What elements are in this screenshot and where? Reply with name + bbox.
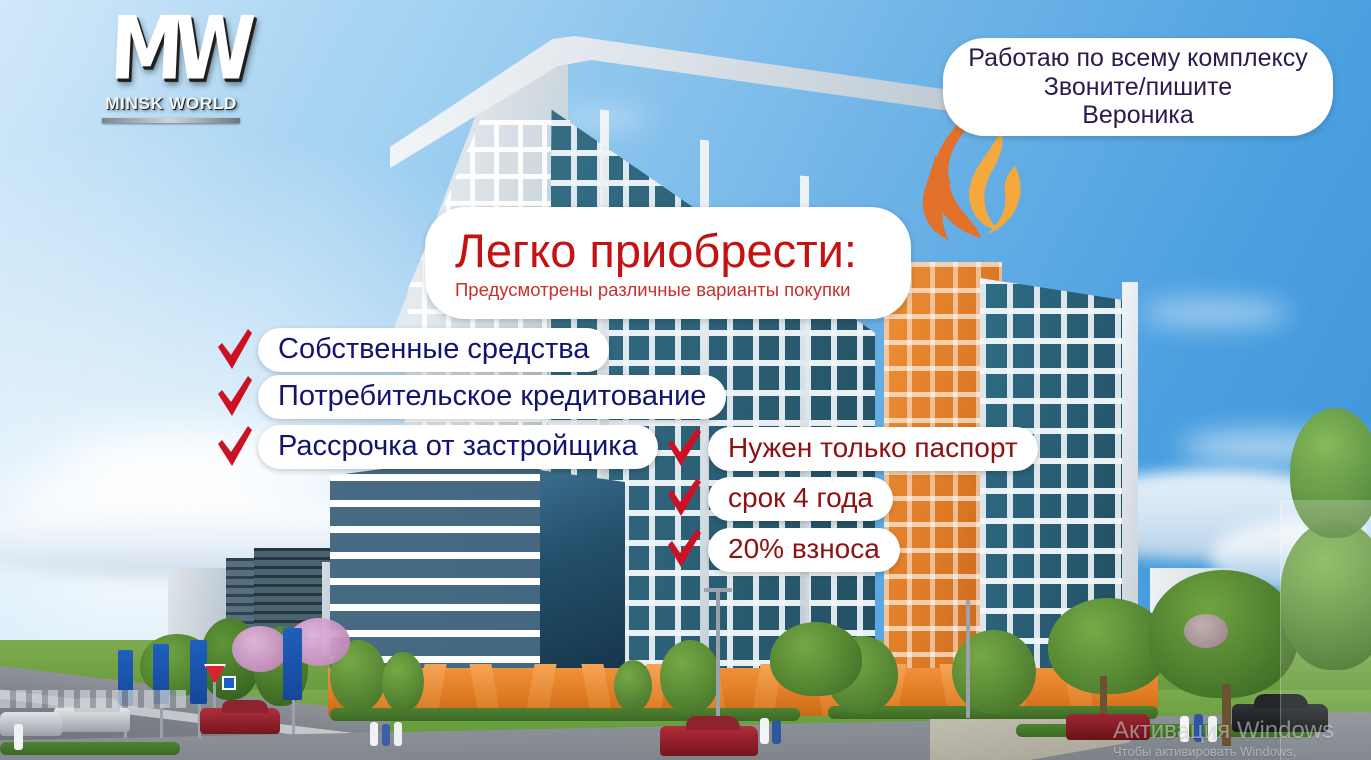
installment-term-row[interactable]: срок 4 года (664, 476, 893, 522)
pedestrian-sign (222, 676, 236, 690)
check-icon (214, 327, 254, 373)
headline-subtitle: Предусмотрены различные варианты покупки (455, 279, 881, 301)
logo-underline (102, 118, 240, 123)
minsk-world-logo: MW MINSK WORLD (96, 14, 246, 124)
installment-term-label: 20% взноса (708, 528, 900, 571)
glass-panel-overlay (1280, 500, 1371, 760)
logo-monogram: MW (108, 8, 247, 91)
contact-line-2: Звоните/пишите (959, 73, 1317, 102)
pedestrian (772, 720, 781, 744)
shrub (660, 640, 720, 714)
payment-option-row[interactable]: Собственные средства (214, 327, 609, 373)
pedestrian (394, 722, 402, 746)
contact-line-3: Вероника (959, 101, 1317, 130)
headline-bubble: Легко приобрести: Предусмотрены различны… (425, 207, 911, 319)
blossom-tree (232, 626, 288, 672)
banner-flag (283, 628, 302, 700)
headline-title: Легко приобрести: (455, 227, 881, 274)
payment-option-label: Собственные средства (258, 328, 609, 372)
lamp-post (966, 600, 970, 718)
shrub (382, 652, 424, 712)
check-icon (664, 476, 704, 522)
pedestrian (1208, 716, 1217, 742)
tree-trunk (1222, 684, 1231, 746)
contact-bubble[interactable]: Работаю по всему комплексу Звоните/пишит… (943, 38, 1333, 136)
tree-canopy (770, 622, 862, 696)
car (660, 726, 758, 756)
check-icon (214, 374, 254, 420)
pedestrian (370, 722, 378, 746)
check-icon (664, 426, 704, 472)
car (222, 700, 268, 713)
cloud (1140, 300, 1290, 326)
car (1066, 714, 1150, 740)
hedge-row (0, 742, 180, 755)
pedestrian (382, 724, 390, 746)
pedestrian (1194, 714, 1203, 742)
logo-wordmark: MINSK WORLD (95, 94, 248, 114)
installment-term-label: Нужен только паспорт (708, 427, 1038, 470)
blossom-tree (1184, 614, 1228, 648)
parking-row (0, 690, 186, 708)
installment-term-row[interactable]: Нужен только паспорт (664, 426, 1038, 472)
pedestrian (760, 718, 769, 744)
car (0, 712, 62, 736)
lamp-post (716, 588, 720, 716)
lamp-arm (704, 588, 732, 592)
payment-option-label: Рассрочка от застройщика (258, 425, 658, 469)
car (686, 716, 740, 730)
tower-glass-bay (530, 470, 625, 670)
installment-term-row[interactable]: 20% взноса (664, 527, 900, 573)
contact-line-1: Работаю по всему комплексу (959, 44, 1317, 73)
poster-canvas: MW MINSK WORLD Работаю по всему комплекс… (0, 0, 1371, 760)
pedestrian (1180, 716, 1189, 742)
payment-option-label: Потребительское кредитование (258, 375, 726, 419)
payment-option-row[interactable]: Потребительское кредитование (214, 374, 726, 420)
check-icon (214, 424, 254, 470)
payment-option-row[interactable]: Рассрочка от застройщика (214, 424, 658, 470)
shrub (952, 630, 1036, 714)
pedestrian (14, 724, 23, 750)
check-icon (664, 527, 704, 573)
banner-flag (190, 640, 207, 704)
shrub (614, 660, 652, 712)
installment-term-label: срок 4 года (708, 477, 893, 520)
